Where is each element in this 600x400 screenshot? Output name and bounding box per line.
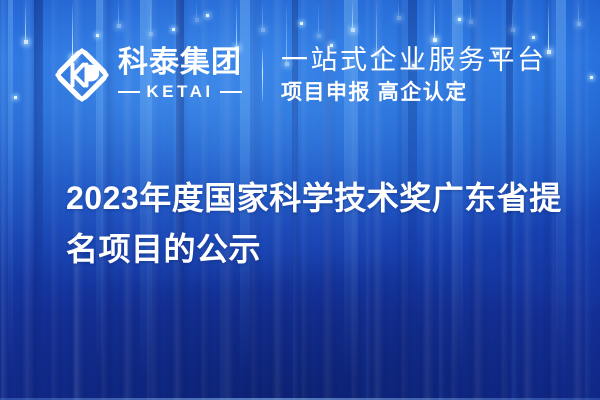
page-title: 2023年度国家科学技术奖广东省提名项目的公示 — [66, 173, 566, 274]
light-streak — [262, 0, 263, 30]
streak-dot — [195, 18, 199, 22]
promo-banner: 科泰集团 KETAI 一站式企业服务平台 项目申报 高企认定 2023年度国家科… — [0, 0, 600, 400]
wordmark-rule-left — [118, 91, 140, 93]
sparkle — [172, 28, 175, 31]
brand-logo[interactable]: 科泰集团 KETAI — [55, 48, 242, 102]
wordmark-rule-right — [220, 91, 242, 93]
light-streak — [196, 0, 197, 20]
streak-dot — [351, 28, 355, 32]
brand-name-en: KETAI — [146, 82, 213, 102]
light-streak — [150, 0, 151, 34]
light-streak — [398, 0, 399, 18]
sparkle — [458, 18, 461, 21]
light-streak — [118, 0, 119, 26]
streak-dot — [469, 20, 473, 24]
light-streak — [578, 0, 579, 24]
banner-header: 科泰集团 KETAI 一站式企业服务平台 项目申报 高企认定 — [0, 36, 600, 114]
header-tagline: 一站式企业服务平台 项目申报 高企认定 — [281, 45, 547, 106]
light-streak — [470, 0, 471, 22]
tagline-secondary: 项目申报 高企认定 — [281, 79, 547, 105]
brand-name-en-row: KETAI — [118, 82, 242, 102]
light-streak — [318, 0, 319, 36]
tagline-primary: 一站式企业服务平台 — [281, 45, 547, 76]
brand-name-cn: 科泰集团 — [118, 48, 242, 79]
ketai-diamond-kd-monogram-icon — [55, 48, 109, 102]
streak-dot — [511, 28, 515, 32]
header-divider — [262, 49, 263, 101]
light-streak — [352, 0, 353, 30]
streak-dot — [577, 22, 581, 26]
light-streak — [512, 0, 513, 30]
sparkle — [300, 22, 303, 25]
streak-dot — [261, 28, 265, 32]
brand-wordmark: 科泰集团 KETAI — [118, 48, 242, 102]
streak-dot — [117, 24, 121, 28]
streak-dot — [397, 16, 401, 20]
light-streak — [434, 0, 435, 40]
sparkle — [206, 14, 209, 17]
